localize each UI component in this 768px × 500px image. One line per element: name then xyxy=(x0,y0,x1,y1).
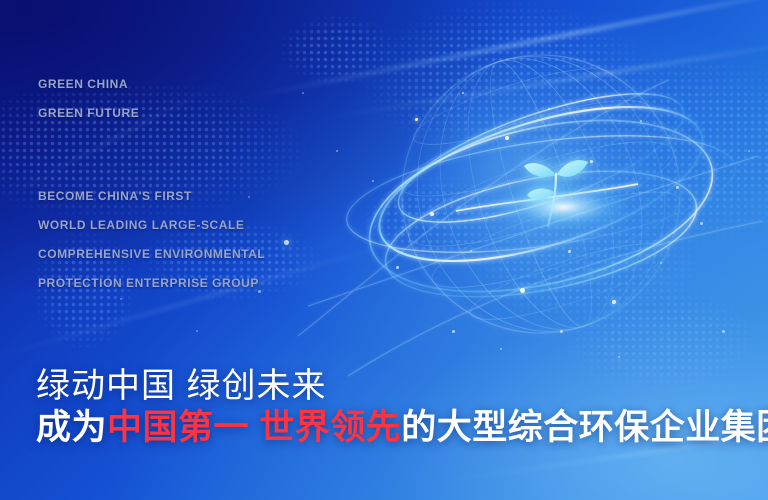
headline-suffix: 的大型综合环保企业集团 xyxy=(401,408,768,447)
headline-line-1: 绿动中国 绿创未来 xyxy=(36,366,768,406)
headline-prefix: 成为 xyxy=(36,408,107,447)
chinese-headline: 绿动中国 绿创未来 成为中国第一 世界领先的大型综合环保企业集团 xyxy=(36,366,768,450)
english-statement: BECOME CHINA'S FIRST WORLD LEADING LARGE… xyxy=(38,182,265,298)
statement-line: COMPREHENSIVE ENVIRONMENTAL xyxy=(38,240,265,269)
tagline-line: GREEN FUTURE xyxy=(38,99,139,128)
statement-line: WORLD LEADING LARGE-SCALE xyxy=(38,211,265,240)
english-tagline: GREEN CHINA GREEN FUTURE xyxy=(38,70,139,128)
statement-line: BECOME CHINA'S FIRST xyxy=(38,182,265,211)
statement-line: PROTECTION ENTERPRISE GROUP xyxy=(38,269,265,298)
headline-line-2: 成为中国第一 世界领先的大型综合环保企业集团 xyxy=(36,406,768,450)
hero-banner: GREEN CHINA GREEN FUTURE BECOME CHINA'S … xyxy=(0,0,768,500)
tagline-line: GREEN CHINA xyxy=(38,70,139,99)
headline-accent: 中国第一 世界领先 xyxy=(107,408,401,447)
